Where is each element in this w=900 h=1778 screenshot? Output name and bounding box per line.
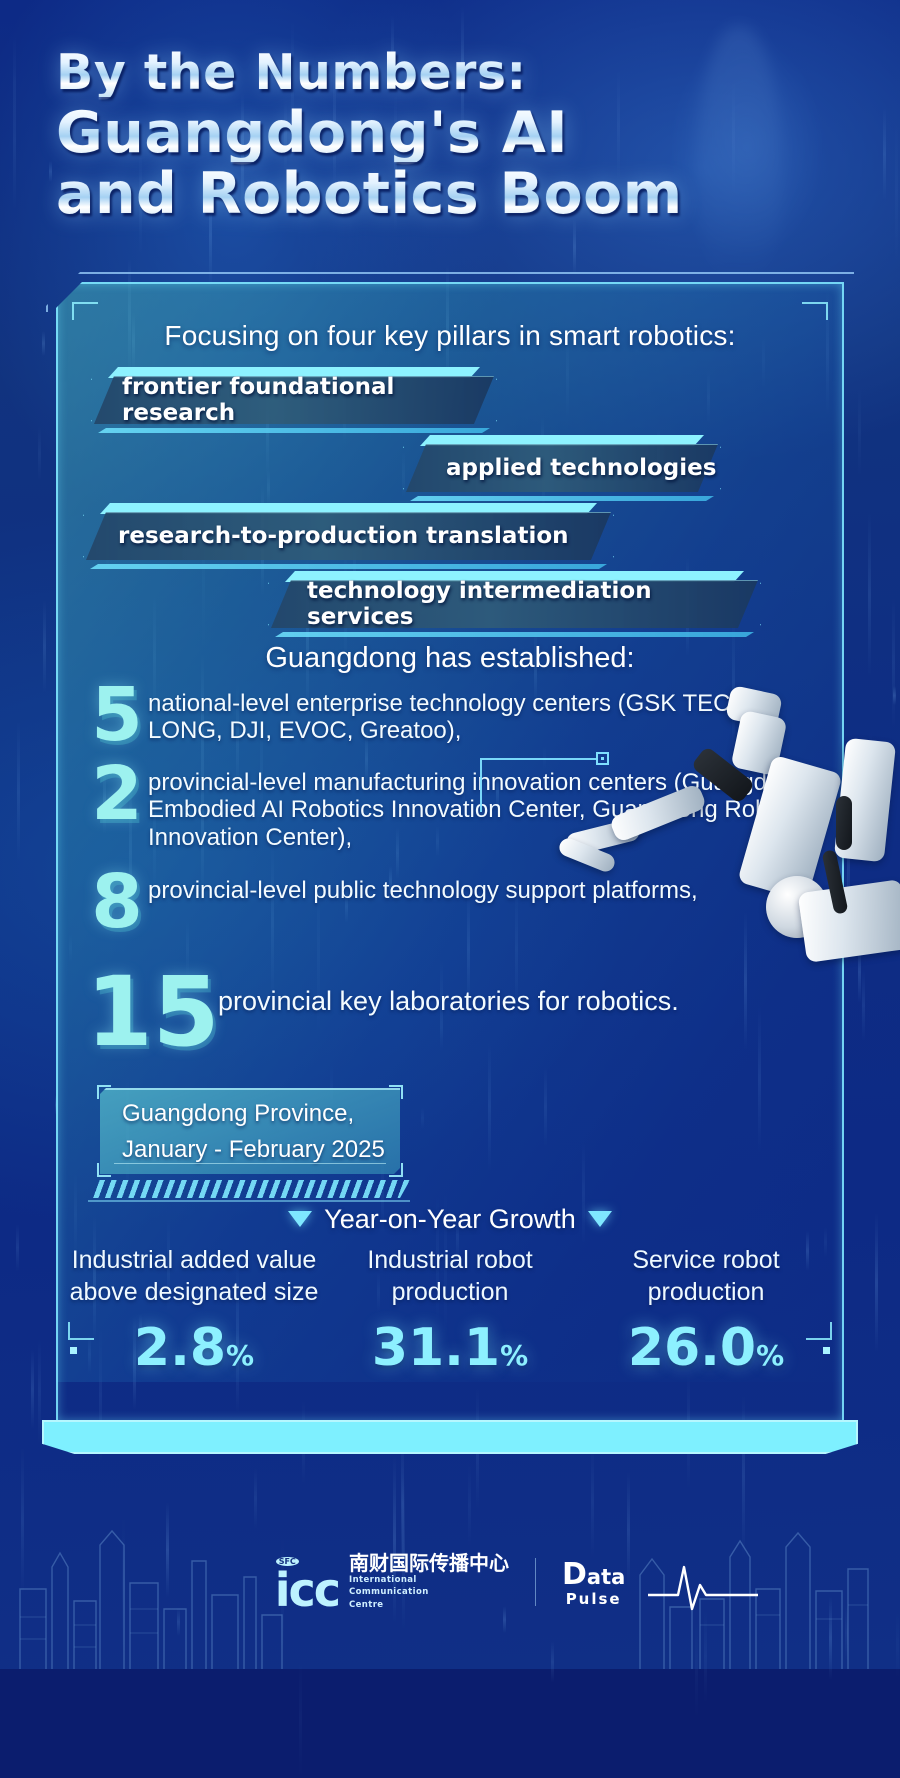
title-line-1: By the Numbers:: [56, 48, 756, 97]
page-title: By the Numbers: Guangdong's AI and Robot…: [56, 48, 756, 223]
pillar-label-1: frontier foundational research: [122, 374, 494, 426]
percent-symbol-1: %: [226, 1339, 254, 1372]
pillar-banner-1: frontier foundational research: [94, 376, 494, 424]
icc-chinese-name: 南财国际传播中心: [349, 1553, 509, 1574]
pillar-foot-accent: [275, 632, 754, 637]
icc-mark-text: icc: [275, 1563, 339, 1617]
percent-symbol-2: %: [500, 1339, 528, 1372]
growth-column-3: Service robot production 26.0%: [578, 1244, 834, 1378]
icc-english-1: International: [349, 1574, 509, 1586]
icc-english-3: Centre: [349, 1599, 509, 1611]
growth-value-2: 31.1%: [322, 1318, 578, 1378]
callout-marker: [596, 752, 609, 765]
triangle-down-icon-left: [288, 1211, 312, 1227]
stat-number: 8: [86, 867, 148, 938]
robot-second-cable: [836, 796, 852, 850]
callout-leader-line: [480, 758, 598, 812]
pillar-foot-accent: [410, 496, 714, 501]
growth-value-1: 2.8%: [66, 1318, 322, 1378]
percent-symbol-3: %: [756, 1339, 784, 1372]
data-pulse-d: D: [562, 1557, 587, 1592]
growth-label-1: Industrial added value above designated …: [66, 1244, 322, 1308]
robot-arm-illustration: [540, 700, 900, 1030]
growth-value-3: 26.0%: [578, 1318, 834, 1378]
growth-number-3: 26.0: [628, 1318, 756, 1378]
growth-column-1: Industrial added value above designated …: [66, 1244, 322, 1378]
growth-number-1: 2.8: [134, 1318, 226, 1378]
growth-label-3: Service robot production: [578, 1244, 834, 1308]
footer-logos: SFC icc 南财国际传播中心 International Communica…: [0, 1553, 900, 1611]
data-pulse-sub: Pulse: [566, 1590, 622, 1608]
data-pulse-wordmark: Data: [562, 1557, 625, 1592]
data-pulse-logo: Data Pulse: [562, 1557, 625, 1608]
icc-logo: SFC icc 南财国际传播中心 International Communica…: [275, 1553, 509, 1611]
frame-base-bar: [42, 1420, 858, 1454]
ekg-waveform-icon: [648, 1561, 758, 1613]
corner-tick-top-left: [72, 302, 98, 320]
corner-tick-top-right: [802, 302, 828, 320]
plaque-line-1: Guangdong Province,: [122, 1096, 386, 1132]
plaque-hatch-shadow: [88, 1180, 410, 1198]
growth-heading: Year-on-Year Growth: [56, 1204, 844, 1235]
pillar-banner-2: applied technologies: [406, 444, 718, 492]
plaque-rule: [114, 1163, 386, 1164]
title-line-3: and Robotics Boom: [56, 166, 756, 223]
plaque-shadow-line: [88, 1200, 410, 1202]
growth-columns: Industrial added value above designated …: [66, 1244, 834, 1378]
pillar-label-3: research-to-production translation: [118, 523, 569, 549]
pillar-label-4: technology intermediation services: [307, 578, 758, 630]
growth-number-2: 31.1: [372, 1318, 500, 1378]
growth-label-2: Industrial robot production: [322, 1244, 578, 1308]
pillar-foot-accent: [90, 564, 607, 569]
pillars-intro: Focusing on four key pillars in smart ro…: [56, 320, 844, 352]
stat-number: 2: [86, 759, 148, 830]
icc-wordmark: SFC icc: [275, 1570, 339, 1611]
pillar-label-2: applied technologies: [446, 455, 716, 481]
icc-english-2: Communication: [349, 1586, 509, 1598]
footer-divider: [535, 1558, 536, 1606]
growth-column-2: Industrial robot production 31.1%: [322, 1244, 578, 1378]
robot-forearm: [609, 783, 708, 843]
sfc-badge: SFC: [276, 1557, 299, 1566]
source-plaque: Guangdong Province, January - February 2…: [100, 1088, 400, 1174]
growth-heading-label: Year-on-Year Growth: [324, 1204, 576, 1234]
title-line-2: Guangdong's AI: [56, 105, 756, 162]
pillar-foot-accent: [98, 428, 490, 433]
pillar-banner-3: research-to-production translation: [86, 512, 611, 560]
stat-number: 15: [86, 964, 218, 1058]
data-pulse-ata: ata: [587, 1565, 625, 1589]
established-heading: Guangdong has established:: [56, 642, 844, 675]
stat-number: 5: [86, 680, 148, 751]
pillar-banner-4: technology intermediation services: [271, 580, 758, 628]
triangle-down-icon-right: [588, 1211, 612, 1227]
robot-base-segment: [798, 879, 900, 963]
